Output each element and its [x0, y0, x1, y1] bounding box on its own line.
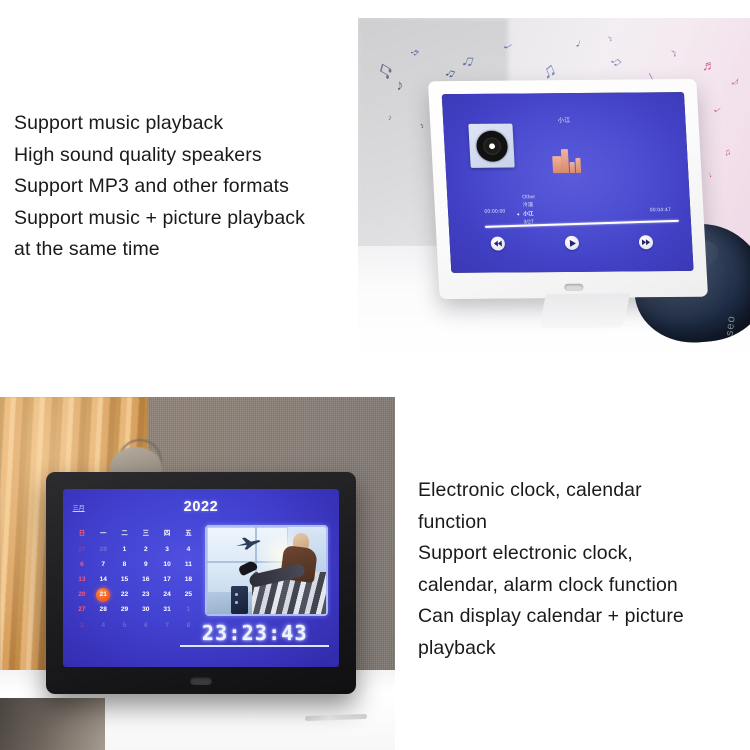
calendar-weekday-header: 四 [156, 526, 177, 541]
power-button[interactable] [190, 677, 212, 685]
frame-stand [539, 293, 630, 328]
feature-line: Support electronic clock, [418, 538, 748, 570]
calendar-day[interactable]: 15 [114, 572, 135, 587]
vinyl-record-icon [476, 131, 509, 162]
calendar-day[interactable]: 4 [93, 618, 114, 633]
music-player-screen: 小江 Other冷漠小江3/27 00:00:00 00:04:47 [442, 92, 694, 273]
airport-lounge-photo [207, 527, 326, 614]
music-note-icon: ♪ [728, 73, 743, 89]
feature-line: at the same time [14, 234, 362, 266]
time-elapsed: 00:00:00 [484, 208, 505, 214]
play-button[interactable] [565, 236, 580, 250]
music-note-icon: ♫ [609, 53, 626, 70]
calendar-weekday-header: 三 [135, 526, 156, 541]
calendar-weekday-header: 五 [178, 526, 199, 541]
feature-line: function [418, 507, 748, 539]
calendar-day[interactable]: 1 [178, 602, 199, 617]
calendar-day[interactable]: 20 [71, 587, 92, 602]
calendar-grid[interactable]: 日一二三四五六272812345678910111213141516171819… [71, 526, 220, 632]
bottom-feature-section: 三月 2022 日一二三四五六2728123456789101112131415… [0, 390, 750, 750]
calendar-day[interactable]: 7 [156, 618, 177, 633]
calendar-day[interactable]: 31 [156, 602, 177, 617]
calendar-day[interactable]: 6 [71, 557, 92, 572]
next-button[interactable] [639, 235, 654, 249]
calendar-day[interactable]: 25 [178, 587, 199, 602]
calendar-day[interactable]: 29 [114, 602, 135, 617]
previous-icon [494, 241, 502, 247]
calendar-year-label: 2022 [63, 499, 339, 515]
top-feature-section: Support music playback High sound qualit… [0, 0, 750, 390]
calendar-day[interactable]: 14 [93, 572, 114, 587]
calendar-week-row: 13141516171819 [71, 572, 220, 587]
previous-button[interactable] [491, 237, 506, 251]
top-feature-text-block: Support music playback High sound qualit… [14, 108, 362, 266]
album-art-thumbnail [469, 124, 515, 168]
calendar-day[interactable]: 27 [71, 542, 92, 557]
calendar-day[interactable]: 23 [135, 587, 156, 602]
calendar-day[interactable]: 8 [114, 557, 135, 572]
play-icon [568, 240, 575, 247]
speaker-brand-label: seo [724, 315, 738, 337]
calendar-day[interactable]: 24 [156, 587, 177, 602]
feature-line: High sound quality speakers [14, 140, 362, 172]
feature-line: playback [418, 633, 748, 665]
seated-person [274, 533, 321, 596]
calendar-header-row: 日一二三四五六 [71, 526, 220, 541]
calendar-day[interactable]: 6 [135, 618, 156, 633]
feature-line: Support music playback [14, 108, 362, 140]
calendar-day[interactable]: 13 [71, 572, 92, 587]
calendar-day[interactable]: 22 [114, 587, 135, 602]
playback-time-row: 00:00:00 00:04:47 [484, 207, 671, 215]
suitcase [231, 586, 248, 614]
power-button[interactable] [564, 284, 583, 291]
feature-line: Support MP3 and other formats [14, 171, 362, 203]
calendar-day[interactable]: 1 [114, 542, 135, 557]
calendar-clock-screen: 三月 2022 日一二三四五六2728123456789101112131415… [63, 489, 339, 667]
next-icon [642, 239, 650, 245]
feature-line: Can display calendar + picture [418, 601, 748, 633]
bottom-feature-text-block: Electronic clock, calendar function Supp… [418, 475, 748, 664]
calendar-day[interactable]: 28 [93, 602, 114, 617]
calendar-day[interactable]: 28 [93, 542, 114, 557]
calendar-day[interactable]: 11 [178, 557, 199, 572]
calendar-day[interactable]: 18 [178, 572, 199, 587]
music-note-icon: ♩ [706, 168, 717, 179]
music-note-icon: ♪ [667, 45, 680, 59]
playlist-item[interactable]: Other [515, 193, 535, 202]
calendar-day[interactable]: 5 [114, 618, 135, 633]
calendar-day-today[interactable]: 21 [93, 587, 114, 602]
calendar-day[interactable]: 9 [135, 557, 156, 572]
calendar-product-photo: 三月 2022 日一二三四五六2728123456789101112131415… [0, 397, 395, 750]
calendar-day[interactable]: 7 [93, 557, 114, 572]
black-digital-photo-frame: 三月 2022 日一二三四五六2728123456789101112131415… [46, 472, 356, 694]
screen-bezel: 三月 2022 日一二三四五六2728123456789101112131415… [63, 489, 339, 667]
calendar-day[interactable]: 30 [135, 602, 156, 617]
calendar-day[interactable]: 2 [135, 542, 156, 557]
photo-thumbnail [205, 525, 328, 616]
calendar-week-row: 272812345 [71, 542, 220, 557]
feature-line: calendar, alarm clock function [418, 570, 748, 602]
music-note-icon: ♬ [702, 58, 716, 72]
playback-controls [491, 235, 654, 250]
calendar-day[interactable]: 4 [178, 542, 199, 557]
calendar-weekday-header: 日 [71, 526, 92, 541]
music-note-icon: ♫ [723, 147, 732, 158]
calendar-weekday-header: 二 [114, 526, 135, 541]
music-note-icon: ♩ [712, 104, 729, 121]
calendar-week-row: 6789101112 [71, 557, 220, 572]
calendar-weekday-header: 一 [93, 526, 114, 541]
calendar-day[interactable]: 17 [156, 572, 177, 587]
feature-line: Electronic clock, calendar [418, 475, 748, 507]
music-product-photo: ♫♪♬♩♫♪♫♪♬♩♫♪♫♪♬♩♫♪♫♪♬♩♫♪♫♪♬♩♫♪♫♪♬♩♫♪♫♪♬♩… [358, 18, 750, 358]
calendar-day[interactable]: 27 [71, 602, 92, 617]
time-total: 00:04:47 [650, 207, 671, 213]
calendar-day[interactable]: 3 [156, 542, 177, 557]
screen-bezel: 小江 Other冷漠小江3/27 00:00:00 00:04:47 [442, 92, 694, 273]
calendar-week-row: 20212223242526 [71, 587, 220, 602]
digital-clock: 23:23:43 [180, 623, 329, 647]
white-digital-photo-frame: 小江 Other冷漠小江3/27 00:00:00 00:04:47 [428, 79, 708, 299]
calendar-day[interactable]: 16 [135, 572, 156, 587]
calendar-day[interactable]: 10 [156, 557, 177, 572]
equalizer-graphic [552, 147, 583, 173]
calendar-day[interactable]: 3 [71, 618, 92, 633]
table-shadow-left [0, 698, 105, 750]
airplane-icon [235, 537, 261, 550]
music-note-icon: ♩ [575, 37, 590, 52]
feature-line: Support music + picture playback [14, 203, 362, 235]
music-note-icon: ♪ [605, 34, 616, 44]
calendar-week-row: 272829303112 [71, 602, 220, 617]
